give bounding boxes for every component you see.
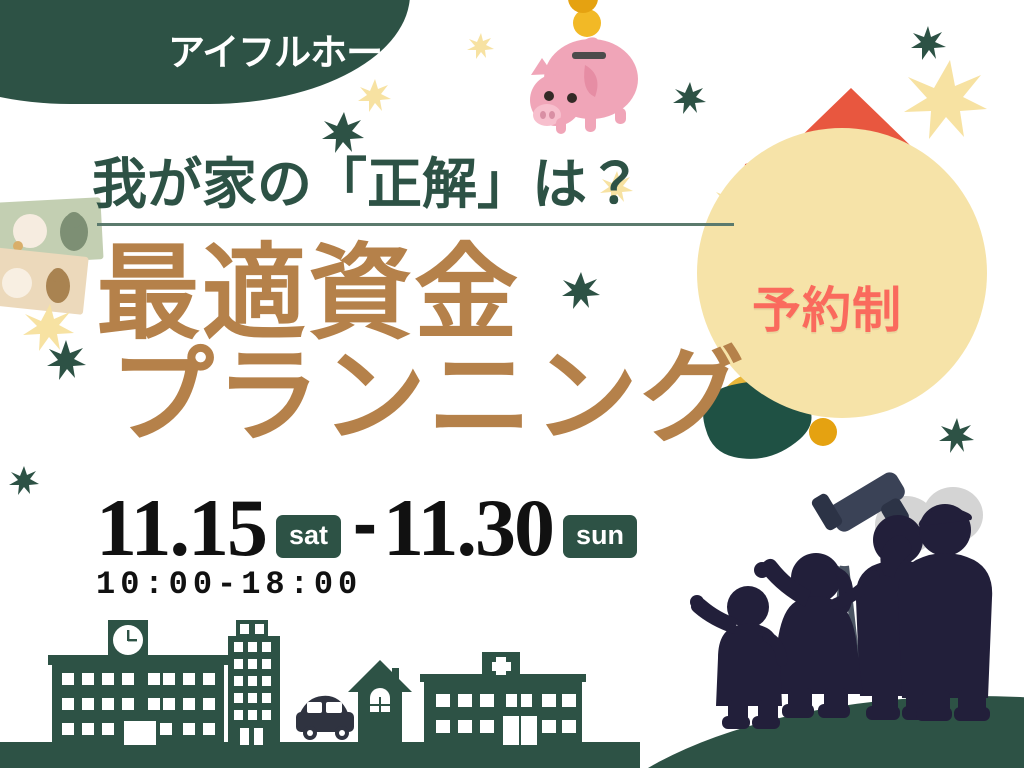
telescope-icon bbox=[810, 469, 911, 535]
main-title-line-2: プランニング bbox=[110, 344, 746, 448]
child-pointing-silhouette bbox=[690, 586, 782, 729]
date-separator: - bbox=[353, 488, 377, 560]
banner-canvas: アイフルホーム 我が家の「正解」は？ 最適資金 プランニング 予約制 11.15… bbox=[0, 0, 1024, 768]
family-telescope-silhouette bbox=[690, 469, 992, 729]
piggy-bank-icon bbox=[530, 39, 638, 134]
event-date-range: 11.15 sat - 11.30 sun bbox=[96, 487, 647, 569]
reservation-required-badge: 予約制 bbox=[752, 271, 902, 342]
tripod bbox=[795, 566, 860, 690]
main-title-line-1: 最適資金 bbox=[96, 241, 520, 345]
adult-standing-silhouette bbox=[898, 504, 992, 721]
adult-hair-grey bbox=[923, 487, 983, 543]
gold-coin-icon bbox=[568, 0, 598, 13]
start-day-badge: sat bbox=[276, 515, 341, 558]
headline-divider bbox=[97, 223, 734, 226]
start-date: 11.15 bbox=[96, 487, 266, 569]
skyline-windows bbox=[58, 624, 576, 745]
adult-looking-silhouette bbox=[856, 515, 938, 720]
gold-coin-icon bbox=[809, 418, 837, 446]
girl-pointing-silhouette bbox=[754, 553, 874, 718]
banknotes-icon bbox=[0, 197, 104, 315]
end-day-badge: sun bbox=[563, 515, 637, 558]
page-headline: 我が家の「正解」は？ bbox=[92, 139, 642, 219]
event-time-range: 10:00-18:00 bbox=[96, 566, 362, 603]
grey-car-icon bbox=[296, 696, 354, 740]
end-date: 11.30 bbox=[383, 487, 553, 569]
ground-strip bbox=[0, 742, 640, 768]
gold-coin-icon bbox=[573, 9, 601, 37]
brand-logo-text: アイフルホーム bbox=[168, 22, 417, 76]
adult-hair-grey bbox=[875, 496, 937, 554]
